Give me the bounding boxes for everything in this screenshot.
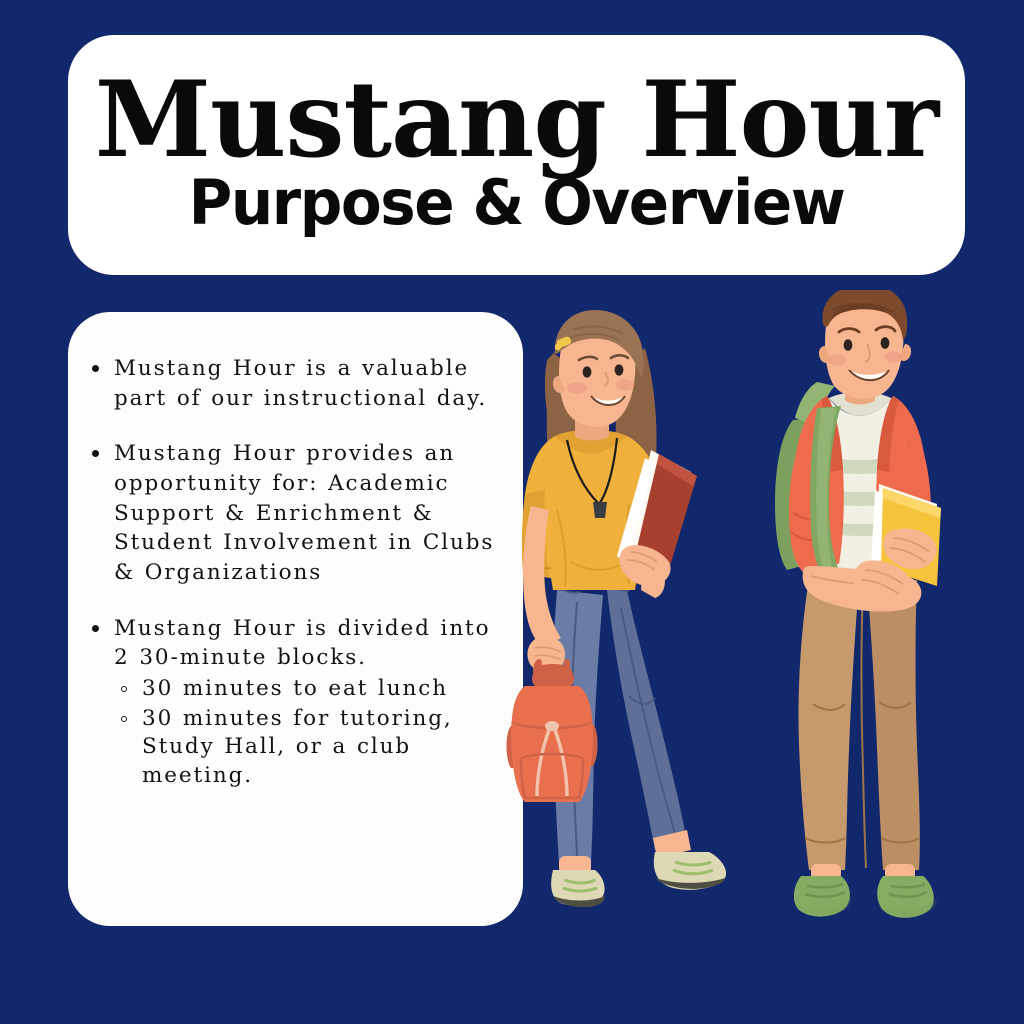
sub-bullet-text: 30 minutes to eat lunch xyxy=(142,676,448,701)
female-student-figure xyxy=(507,310,727,907)
bullet-text: Mustang Hour provides an opportunity for… xyxy=(114,441,494,585)
bullet-text: Mustang Hour is a valuable part of our i… xyxy=(114,356,487,411)
bullet-list: Mustang Hour is a valuable part of our i… xyxy=(84,354,505,790)
page-title: Mustang Hour xyxy=(95,68,938,171)
list-item: Mustang Hour provides an opportunity for… xyxy=(84,439,505,587)
sub-bullet-text: 30 minutes for tutoring, Study Hall, or … xyxy=(142,706,453,788)
female-shoe-left xyxy=(551,870,605,907)
male-shoe-left xyxy=(793,876,851,917)
content-card: Mustang Hour is a valuable part of our i… xyxy=(68,312,523,926)
male-shoe-right xyxy=(877,876,937,918)
list-item: Mustang Hour is divided into 2 30-minute… xyxy=(84,614,505,791)
students-illustration xyxy=(495,290,1024,950)
title-card: Mustang Hour Purpose & Overview xyxy=(68,35,965,275)
list-item: Mustang Hour is a valuable part of our i… xyxy=(84,354,505,413)
page-subtitle: Purpose & Overview xyxy=(189,172,845,234)
female-shoe-right xyxy=(654,852,726,890)
sub-list-item: 30 minutes to eat lunch xyxy=(114,675,505,704)
male-student-figure xyxy=(775,290,941,918)
sub-list-item: 30 minutes for tutoring, Study Hall, or … xyxy=(114,705,505,791)
poster-canvas: Mustang Hour Purpose & Overview Mustang … xyxy=(0,0,1024,1024)
bullet-text: Mustang Hour is divided into 2 30-minute… xyxy=(114,616,490,671)
sub-bullet-list: 30 minutes to eat lunch 30 minutes for t… xyxy=(114,675,505,790)
